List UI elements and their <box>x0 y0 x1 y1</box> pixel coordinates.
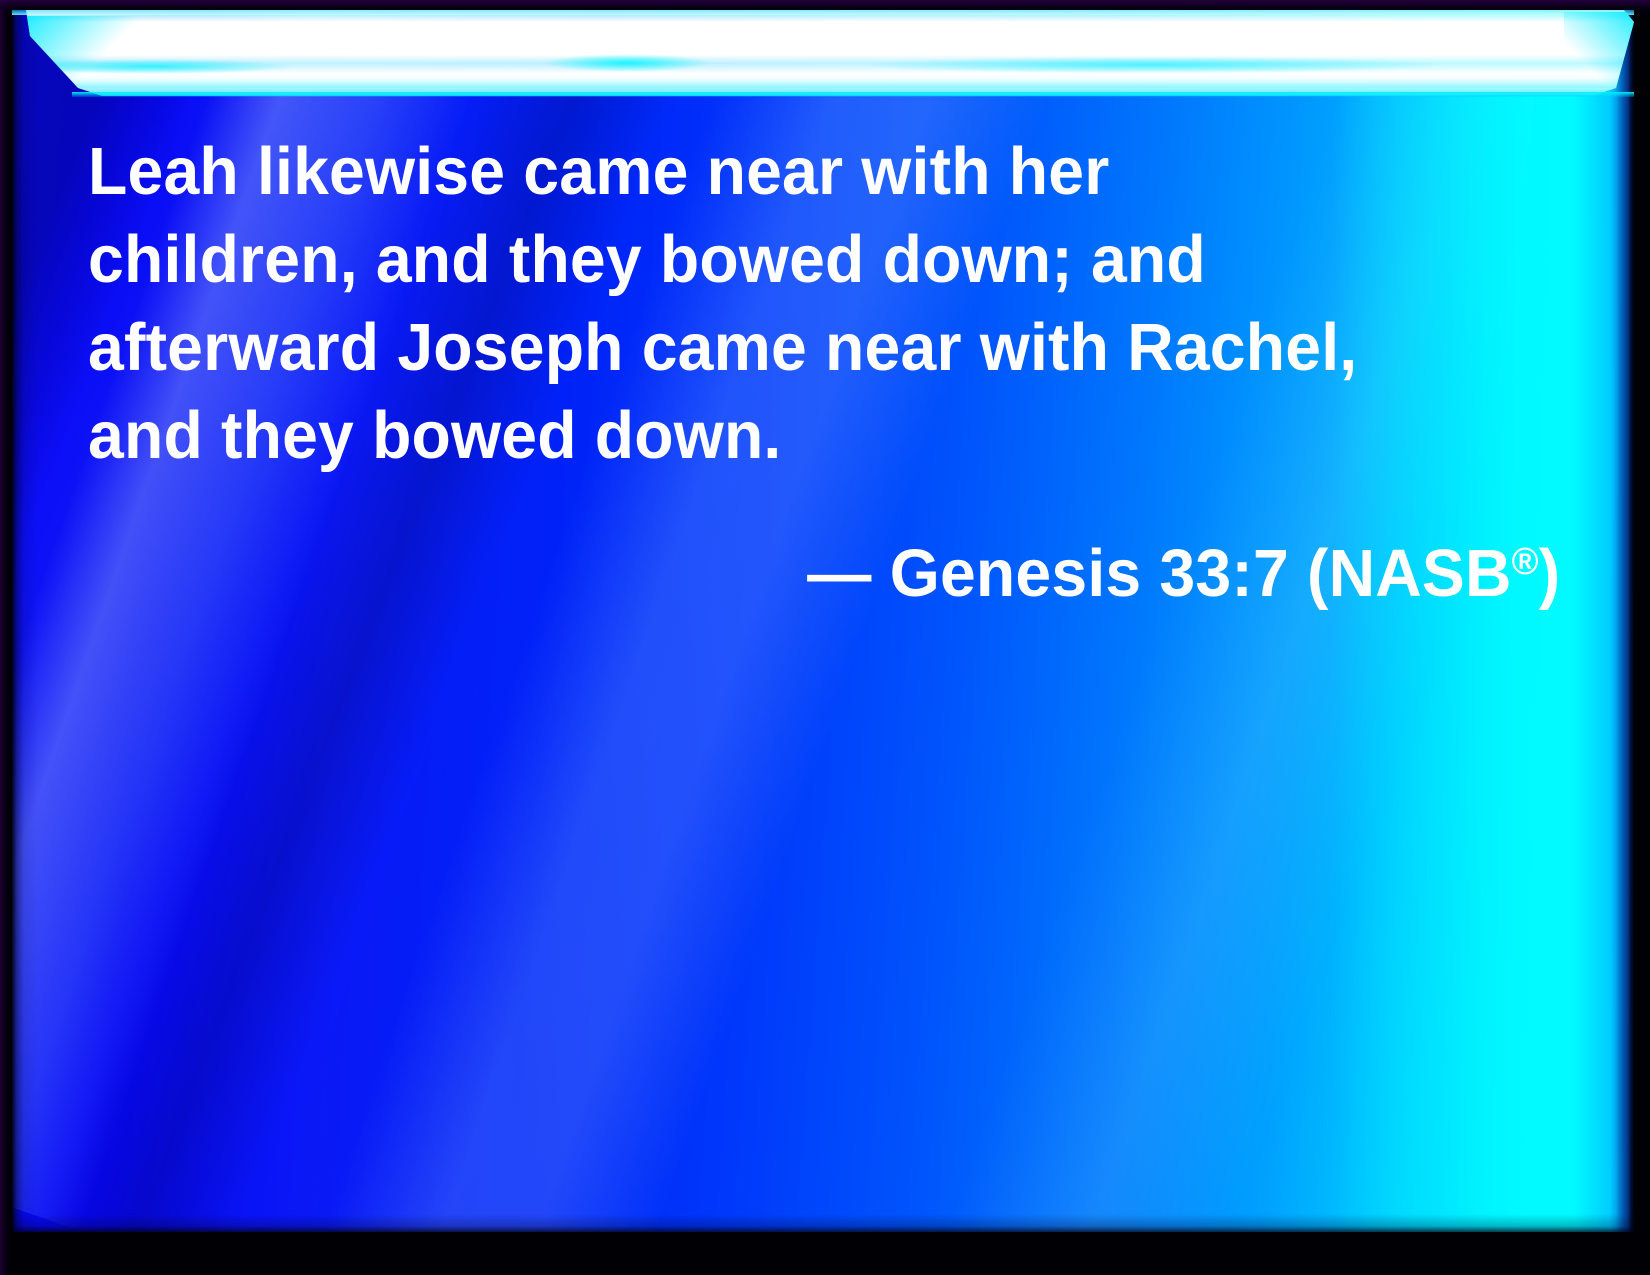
verse-slide: Leah likewise came near with her childre… <box>0 0 1650 1275</box>
registered-trademark-icon: ® <box>1512 541 1539 583</box>
verse-attribution: — Genesis 33:7 (NASB®) <box>147 518 1568 618</box>
attribution-suffix: ) <box>1539 536 1561 611</box>
verse-line-1: Leah likewise came near with her <box>88 128 1509 216</box>
attribution-prefix: — Genesis 33:7 (NASB <box>807 536 1511 611</box>
verse-text-block: Leah likewise came near with her childre… <box>88 128 1568 618</box>
slide-canvas: Leah likewise came near with her childre… <box>12 10 1634 1232</box>
verse-line-2: children, and they bowed down; and <box>88 216 1509 304</box>
verse-line-3: afterward Joseph came near with Rachel, <box>88 304 1509 392</box>
verse-line-4: and they bowed down. <box>88 392 1509 480</box>
